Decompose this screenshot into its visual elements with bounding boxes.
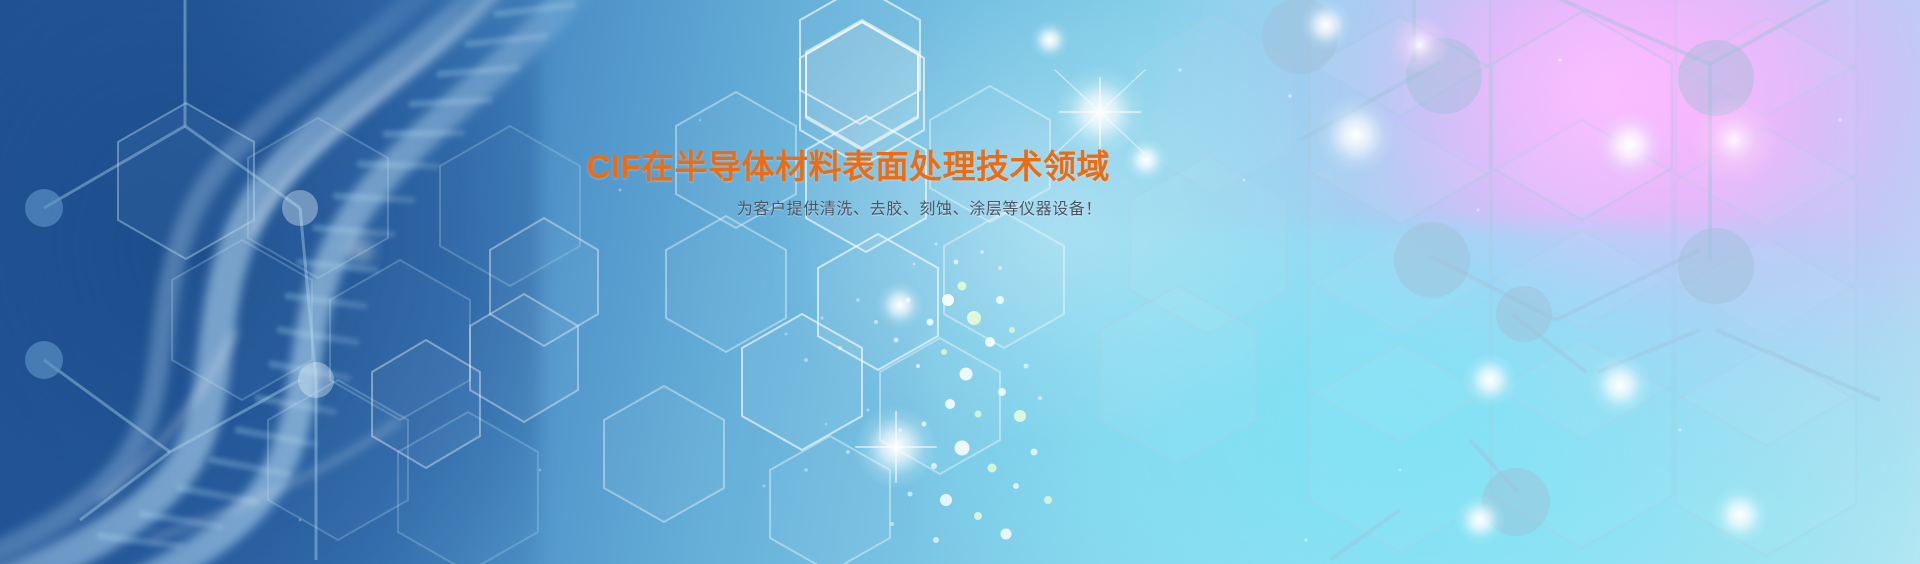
background-wash-left <box>0 0 540 564</box>
page-title: CIF在半导体材料表面处理技术领域 <box>0 148 1110 186</box>
hero-banner: .hxL { fill:rgba(120,170,220,0.10); stro… <box>0 0 1920 564</box>
background-wash-cyan-bottom <box>920 224 1920 564</box>
particle-burst-graphic <box>0 0 1920 564</box>
banner-text-block: CIF在半导体材料表面处理技术领域 为客户提供清洗、去胶、刻蚀、涂层等仪器设备！ <box>0 148 1110 221</box>
background-glow-pink <box>1160 0 1920 500</box>
hexagon-network-graphic: .hxL { fill:rgba(120,170,220,0.10); stro… <box>0 0 1920 564</box>
background-glow-pink-core <box>1380 0 1810 300</box>
page-subtitle: 为客户提供清洗、去胶、刻蚀、涂层等仪器设备！ <box>0 200 1102 221</box>
dna-helix-graphic <box>0 0 1920 564</box>
